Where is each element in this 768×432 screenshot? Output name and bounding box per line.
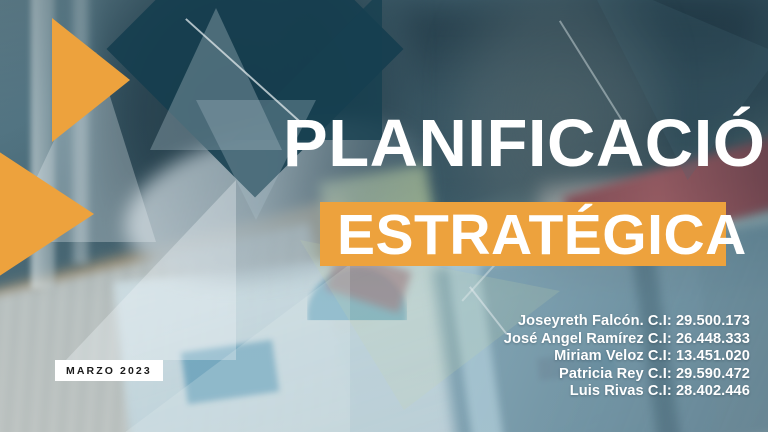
author-item: Joseyreth Falcón. C.I: 29.500.173 [504,313,750,331]
author-item: Luis Rivas C.I: 28.402.446 [504,383,750,401]
title-line-two: ESTRATÉGICA [337,207,747,264]
author-item: José Angel Ramírez C.I: 26.448.333 [504,331,750,349]
date-badge: MARZO 2023 [55,360,163,381]
author-list: Joseyreth Falcón. C.I: 29.500.173 José A… [504,313,750,401]
author-item: Miriam Veloz C.I: 13.451.020 [504,348,750,366]
title-line-one: PLANIFICACIÓN [283,110,768,177]
author-item: Patricia Rey C.I: 29.590.472 [504,366,750,384]
title-slide: PLANIFICACIÓN ESTRATÉGICA Joseyreth Falc… [0,0,768,432]
